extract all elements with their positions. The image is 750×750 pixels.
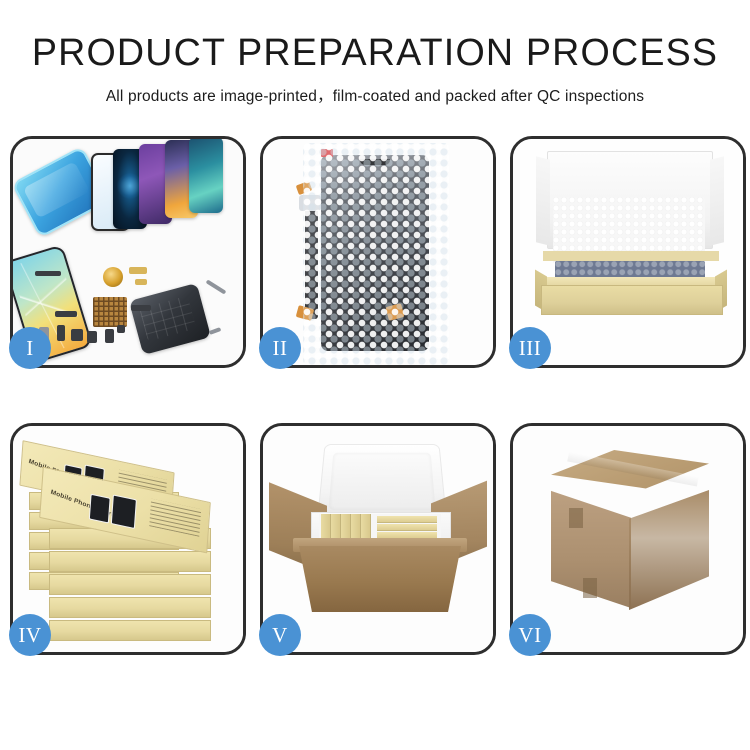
step-2-image — [263, 139, 493, 365]
gold-connector-part — [135, 279, 147, 285]
box-lid-front-thumb-right — [111, 494, 137, 529]
screwdriver-tool — [209, 327, 222, 335]
foam-lid — [317, 444, 447, 520]
box-lid-front-spec-lines — [149, 499, 201, 537]
phone-teal-display — [189, 139, 223, 213]
carton-body — [299, 546, 461, 612]
step-badge-2: II — [259, 327, 301, 369]
tweezers-tool — [206, 279, 227, 294]
small-module-part — [57, 325, 65, 341]
phone-back-housing — [129, 283, 211, 355]
step-5-image — [263, 426, 493, 652]
packed-yellow-box-flat — [377, 524, 437, 531]
carton-right-face — [629, 490, 709, 610]
process-step-4: Mobile Phone Spare Parts Mobile Phone Sp… — [10, 423, 246, 655]
bubble-wrap-overlay — [303, 143, 449, 365]
carton-tape-patch-bottom — [583, 578, 597, 598]
antenna-flex-part — [131, 305, 151, 311]
camera-module-part — [71, 329, 83, 341]
vibrator-part — [87, 331, 97, 343]
step-6-image — [513, 426, 743, 652]
product-preparation-process-infographic: PRODUCT PREPARATION PROCESS All products… — [0, 0, 750, 750]
step-1-image — [13, 139, 243, 365]
stacked-box — [49, 551, 211, 572]
process-step-grid: I II — [10, 136, 746, 655]
gold-contact-part — [129, 267, 147, 274]
step-badge-5: V — [259, 614, 301, 656]
step-badge-6: VI — [509, 614, 551, 656]
connector-part — [55, 311, 77, 317]
step-badge-4: IV — [9, 614, 51, 656]
step-badge-3: III — [509, 327, 551, 369]
stacked-box — [49, 574, 211, 595]
stacked-box — [49, 620, 211, 641]
process-step-2: II — [260, 136, 496, 368]
yellow-box-tray — [541, 255, 721, 315]
step-3-image — [513, 139, 743, 365]
step-4-image: Mobile Phone Spare Parts Mobile Phone Sp… — [13, 426, 243, 652]
stacked-box — [49, 597, 211, 618]
button-flex-part — [105, 329, 114, 343]
page-title: PRODUCT PREPARATION PROCESS — [4, 30, 747, 76]
process-step-1: I — [10, 136, 246, 368]
box-front-face — [541, 285, 723, 315]
flex-cable-part — [35, 271, 61, 276]
box-stack: Mobile Phone Spare Parts Mobile Phone Sp… — [15, 440, 243, 646]
sealed-carton — [533, 450, 729, 626]
packed-yellow-box-flat — [377, 516, 437, 523]
box-lid-front-thumb-left — [89, 494, 111, 524]
step-badge-1: I — [9, 327, 51, 369]
process-step-3: III — [510, 136, 746, 368]
mesh-grid-part — [93, 297, 127, 327]
speaker-coil-part — [103, 267, 123, 287]
carton-tape-patch-top — [569, 508, 583, 528]
page-subtitle: All products are image-printed，film-coat… — [0, 84, 750, 106]
process-step-6: VI — [510, 423, 746, 655]
screw-part — [117, 325, 125, 333]
process-step-5: V — [260, 423, 496, 655]
header: PRODUCT PREPARATION PROCESS All products… — [0, 0, 750, 106]
